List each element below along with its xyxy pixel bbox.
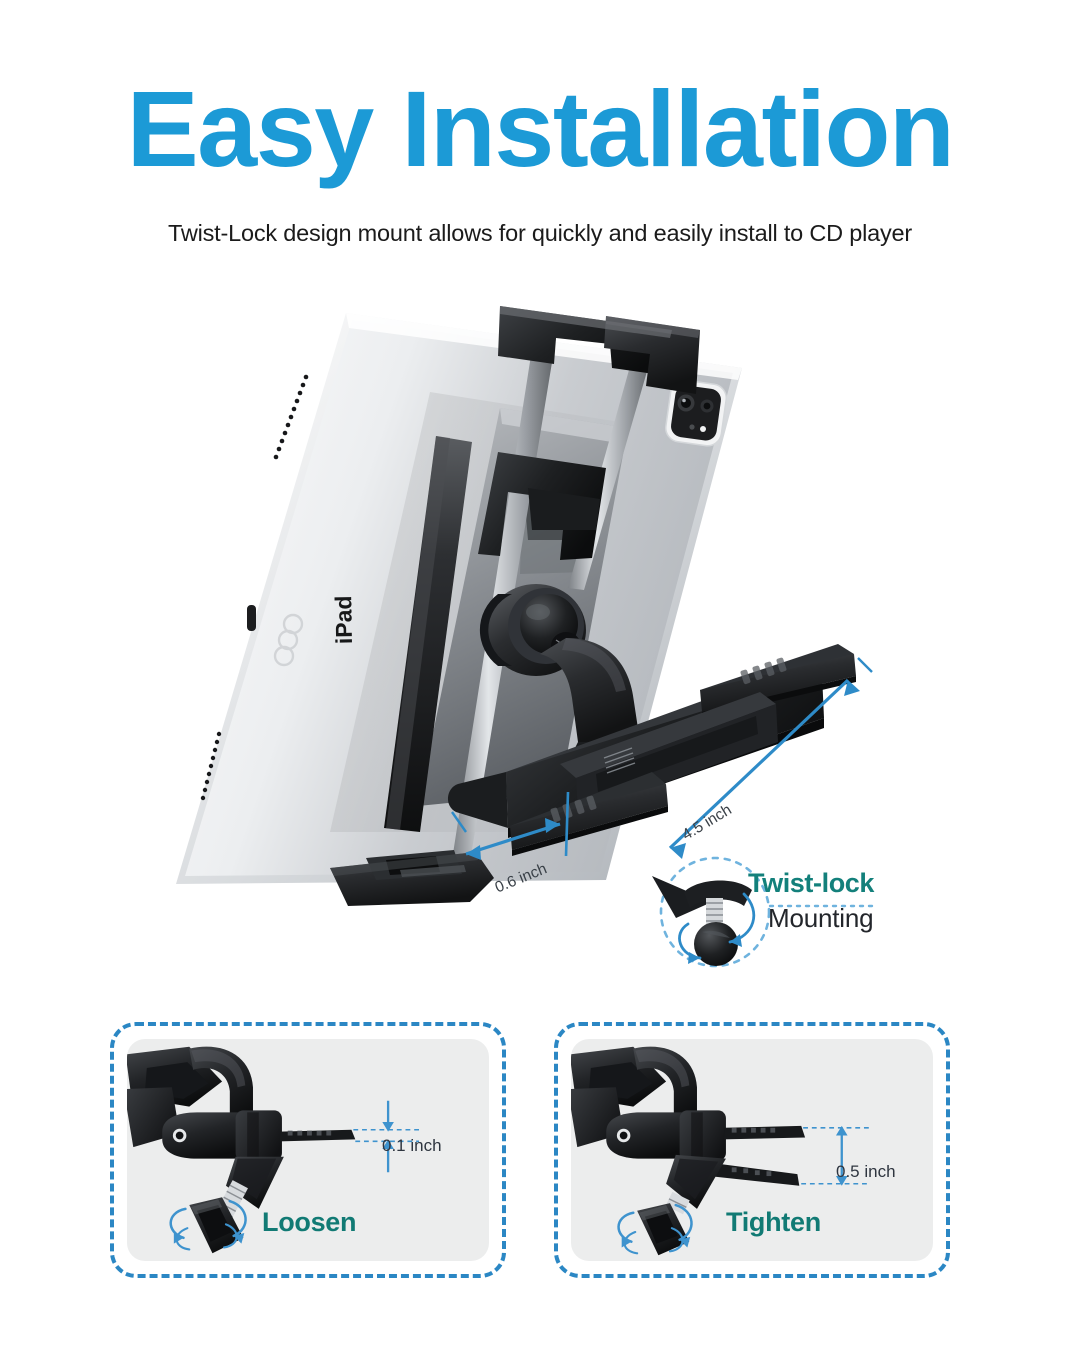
panel-tighten: Tighten 0.5 inch [554, 1022, 950, 1278]
twist-lock-title: Twist-lock [748, 868, 874, 899]
page-title: Easy Installation [0, 74, 1080, 184]
blade-lower [709, 1163, 800, 1186]
instruction-panels: Loosen 0.1 inch [110, 1022, 950, 1278]
panel-tighten-action-label: Tighten [726, 1207, 821, 1238]
infographic-page: Easy Installation Twist-Lock design moun… [0, 0, 1080, 1350]
panel-tighten-dimension-label: 0.5 inch [836, 1162, 896, 1182]
panel-loosen-action-label: Loosen [262, 1207, 356, 1238]
twist-lock-subtitle: Mounting [768, 903, 873, 934]
ipad-speaker-grille [274, 375, 309, 460]
ipad-wordmark: iPad [330, 595, 357, 644]
ipad-side-button [247, 605, 256, 631]
panel-loosen-dimension-label: 0.1 inch [382, 1136, 442, 1156]
page-subtitle: Twist-Lock design mount allows for quick… [0, 220, 1080, 247]
hero-product-image: iPad [0, 272, 1080, 992]
panel-loosen: Loosen 0.1 inch [110, 1022, 506, 1278]
